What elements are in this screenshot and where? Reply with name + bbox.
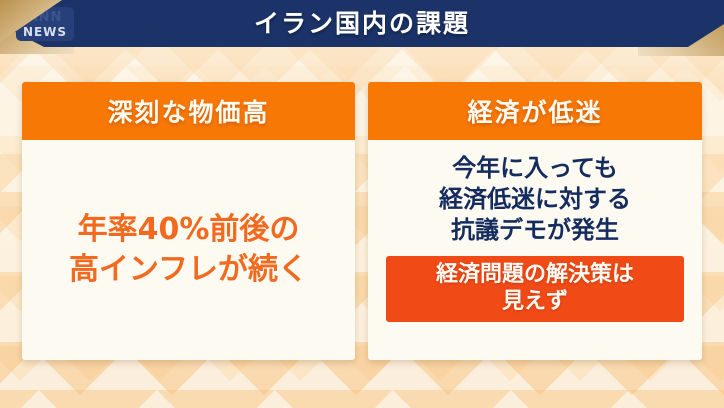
- panel-heading-price-inflation: 深刻な物価高: [22, 82, 355, 140]
- panel-body-price-inflation: 年率40%前後の 高インフレが続く: [22, 140, 355, 360]
- page-title: イラン国内の課題: [0, 4, 724, 40]
- news-graphic-stage: イラン国内の課題 ANN NEWS 深刻な物価高 年率40%前後の 高インフレが…: [0, 0, 724, 408]
- panel-body-line: 高インフレが続く: [69, 250, 308, 290]
- highlight-line: 経済問題の解決策は: [392, 261, 678, 288]
- highlight-line: 見えず: [392, 288, 678, 315]
- title-bar: イラン国内の課題: [0, 0, 724, 47]
- panel-economic-slump: 経済が低迷 今年に入っても 経済低迷に対する 抗議デモが発生 経済問題の解決策は…: [368, 82, 702, 360]
- panel-price-inflation: 深刻な物価高 年率40%前後の 高インフレが続く: [22, 82, 355, 360]
- panel-heading-text: 深刻な物価高: [107, 93, 269, 129]
- panel-body-line: 経済低迷に対する: [439, 184, 631, 215]
- panel-body-line: 抗議デモが発生: [451, 215, 619, 246]
- logo-news-text: NEWS: [23, 26, 67, 38]
- panel-body-line: 年率40%前後の: [78, 210, 300, 250]
- panel-body-economic-slump: 今年に入っても 経済低迷に対する 抗議デモが発生 経済問題の解決策は 見えず: [368, 140, 702, 360]
- panel-body-line: 今年に入っても: [452, 153, 618, 184]
- panel-heading-economic-slump: 経済が低迷: [368, 82, 702, 140]
- highlight-box-no-solution: 経済問題の解決策は 見えず: [386, 256, 684, 323]
- panel-heading-text: 経済が低迷: [467, 93, 602, 129]
